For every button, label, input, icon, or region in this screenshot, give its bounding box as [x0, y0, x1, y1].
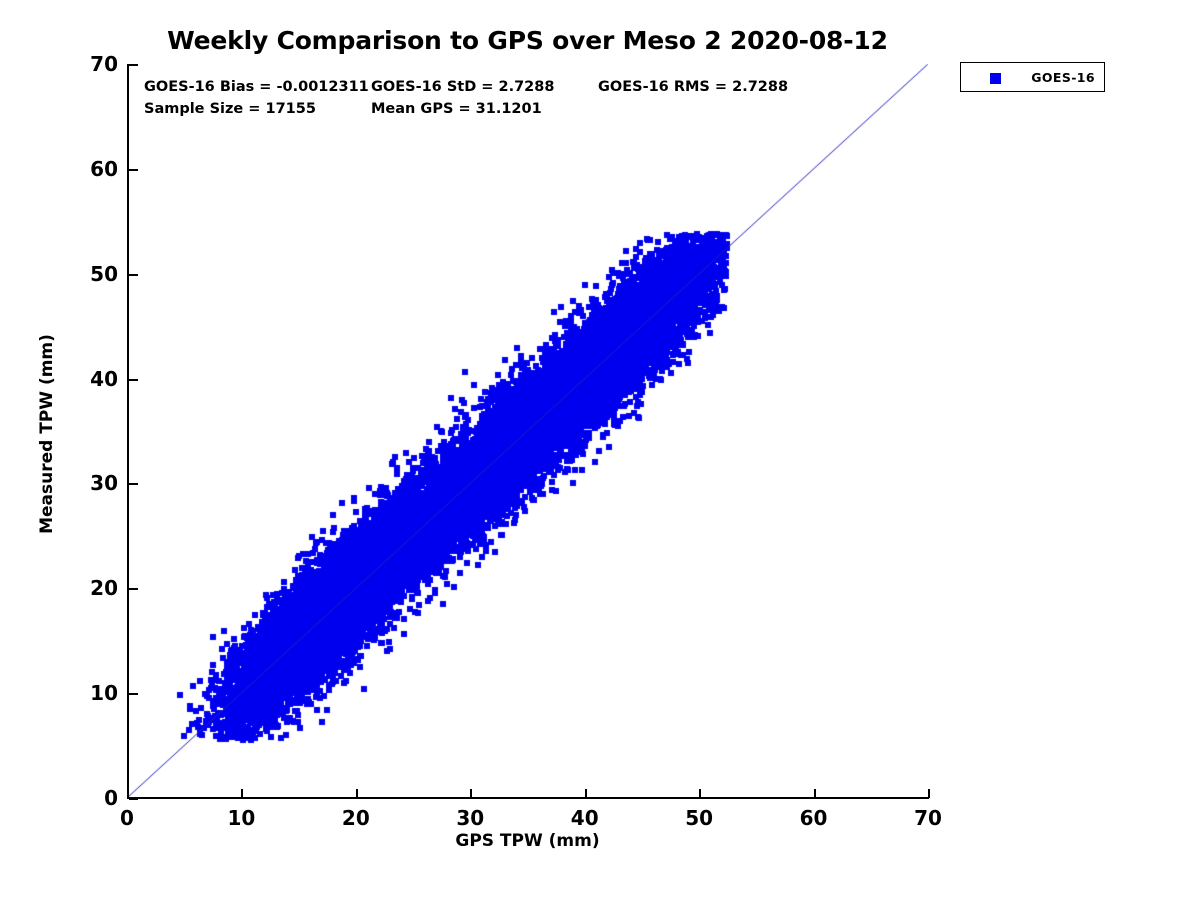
x-ticklabel-0: 0: [120, 806, 134, 830]
y-tick-50: [129, 274, 138, 276]
x-tick-50: [699, 789, 701, 798]
x-tick-0: [127, 789, 129, 798]
x-tick-60: [814, 789, 816, 798]
y-ticklabel-70: 70: [90, 52, 118, 76]
plot-area: [127, 64, 928, 798]
y-ticklabel-50: 50: [90, 262, 118, 286]
x-ticklabel-50: 50: [685, 806, 713, 830]
x-ticklabel-40: 40: [571, 806, 599, 830]
x-tick-40: [585, 789, 587, 798]
x-axis-label: GPS TPW (mm): [127, 831, 928, 851]
page-title: Weekly Comparison to GPS over Meso 2 202…: [127, 26, 928, 55]
legend-label-goes16: GOES-16: [1031, 70, 1095, 85]
x-ticklabel-10: 10: [228, 806, 256, 830]
legend-marker-square: [990, 73, 1001, 84]
x-tick-10: [241, 789, 243, 798]
y-tick-20: [129, 588, 138, 590]
y-axis-line: [127, 64, 129, 799]
x-ticklabel-70: 70: [914, 806, 942, 830]
y-tick-60: [129, 169, 138, 171]
y-tick-70: [129, 64, 138, 66]
y-tick-10: [129, 693, 138, 695]
x-tick-20: [356, 789, 358, 798]
x-tick-30: [470, 789, 472, 798]
x-axis-line: [127, 797, 929, 799]
y-ticklabel-0: 0: [104, 786, 118, 810]
x-ticklabel-30: 30: [456, 806, 484, 830]
x-tick-70: [928, 789, 930, 798]
y-ticklabel-60: 60: [90, 157, 118, 181]
y-tick-0: [129, 798, 138, 800]
y-ticklabel-20: 20: [90, 576, 118, 600]
y-tick-30: [129, 483, 138, 485]
y-ticklabel-30: 30: [90, 471, 118, 495]
y-ticklabel-10: 10: [90, 681, 118, 705]
y-tick-40: [129, 379, 138, 381]
y-axis-label: Measured TPW (mm): [37, 314, 57, 554]
y-ticklabel-40: 40: [90, 367, 118, 391]
x-ticklabel-60: 60: [800, 806, 828, 830]
scatter-plot-canvas: [127, 64, 928, 798]
figure-canvas: Weekly Comparison to GPS over Meso 2 202…: [0, 0, 1200, 900]
legend-box: GOES-16: [960, 62, 1105, 92]
x-ticklabel-20: 20: [342, 806, 370, 830]
